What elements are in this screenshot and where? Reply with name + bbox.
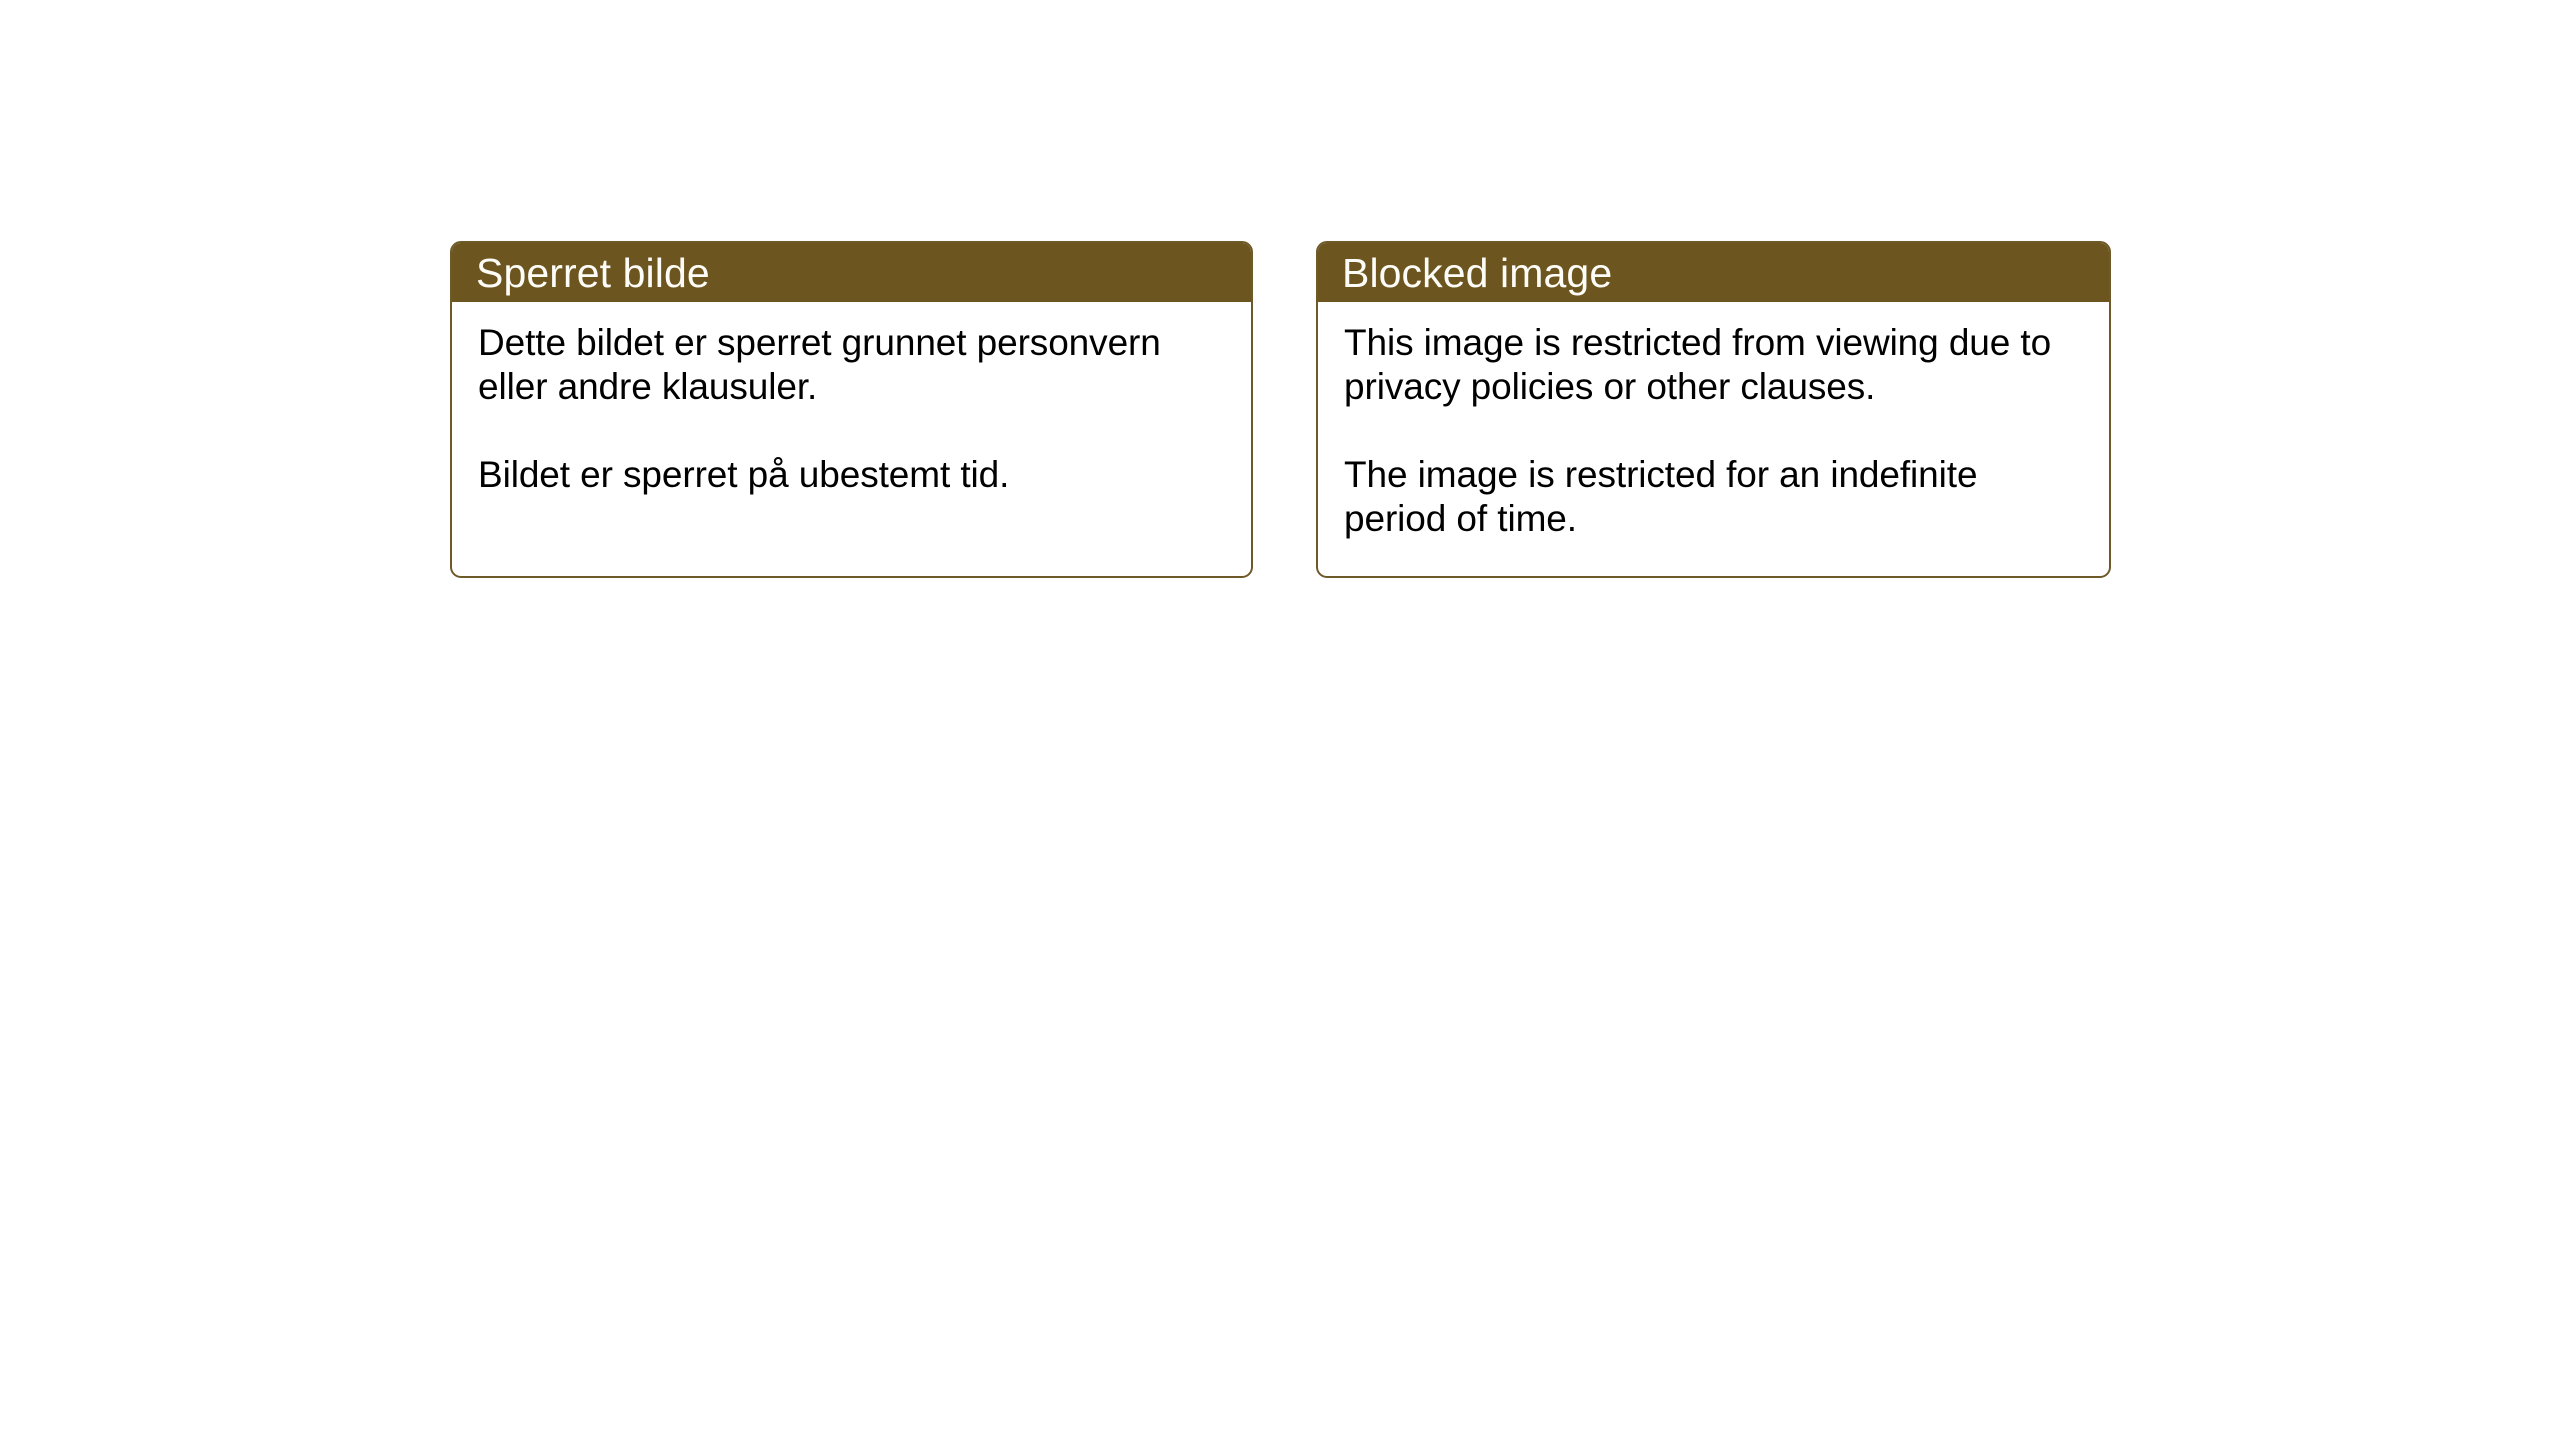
notice-stage: Sperret bilde Dette bildet er sperret gr… <box>0 0 2560 1440</box>
card-title-english: Blocked image <box>1342 251 1612 295</box>
card-header-norwegian: Sperret bilde <box>452 243 1251 302</box>
card-title-norwegian: Sperret bilde <box>476 251 710 295</box>
card-header-english: Blocked image <box>1318 243 2109 302</box>
card-body-english: This image is restricted from viewing du… <box>1318 302 2109 541</box>
blocked-image-card-english: Blocked image This image is restricted f… <box>1316 241 2111 578</box>
card-paragraph-english-1: This image is restricted from viewing du… <box>1344 321 2089 409</box>
card-paragraph-english-2: The image is restricted for an indefinit… <box>1344 453 2089 541</box>
card-paragraph-norwegian-1: Dette bildet er sperret grunnet personve… <box>478 321 1231 409</box>
card-body-norwegian: Dette bildet er sperret grunnet personve… <box>452 302 1251 497</box>
card-paragraph-norwegian-2: Bildet er sperret på ubestemt tid. <box>478 453 1231 497</box>
blocked-image-card-norwegian: Sperret bilde Dette bildet er sperret gr… <box>450 241 1253 578</box>
